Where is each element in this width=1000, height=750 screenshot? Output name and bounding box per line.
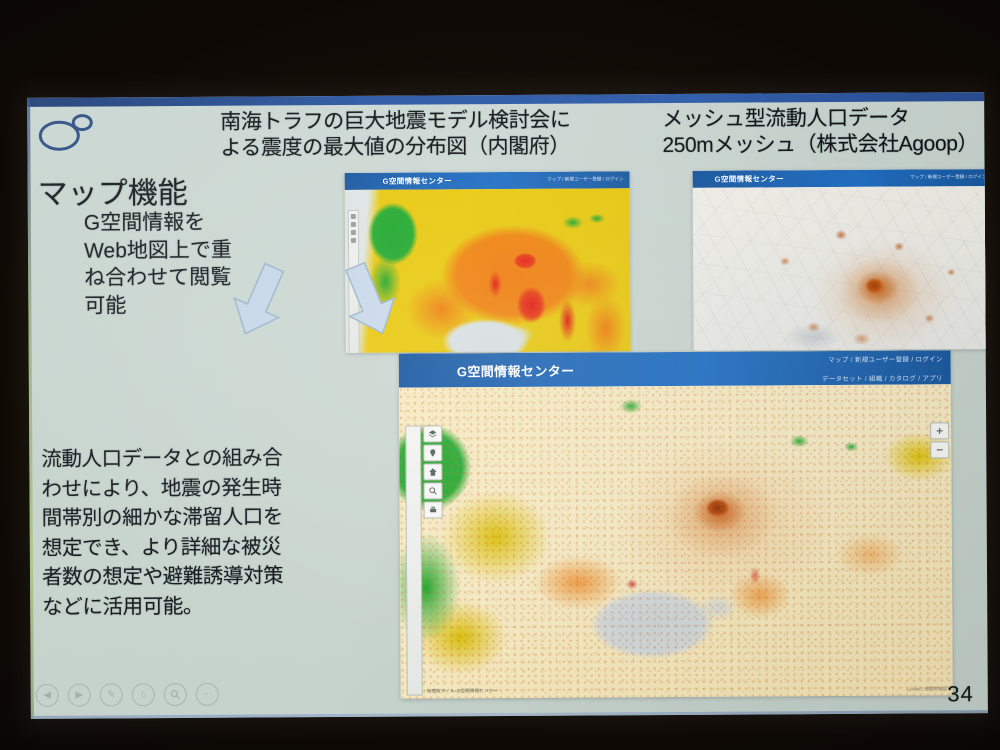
- arrow-down-right-icon: [228, 262, 290, 340]
- viewer-control-bar[interactable]: ◀ ▶ ✎ ⌂ ⋯: [36, 683, 219, 707]
- brand-label: G空間情報センター: [715, 173, 785, 184]
- title-shindo-map: 南海トラフの巨大地震モデル検討会に よる震度の最大値の分布図（内閣府）: [220, 107, 650, 161]
- arrow-down-left-icon: [338, 262, 400, 340]
- brand-label: G空間情報センター: [457, 360, 575, 380]
- map-nav-primary: マップ / 新規ユーザー登録 / ログイン: [822, 353, 943, 364]
- rail-dot: [351, 238, 356, 243]
- map-attribution: 地理院タイル・G空間情報センター: [427, 688, 498, 694]
- pen-tool-button[interactable]: ✎: [100, 683, 123, 706]
- combination-description: 流動人口データとの組み合 わせにより、地震の発生時 間帯別の細かな滞留人口を 想…: [41, 443, 362, 622]
- map-nav-group: マップ / 新規ユーザー登録 / ログイン データセット / 組織 / カタログ…: [822, 353, 943, 383]
- slide-bottom-edge: [31, 710, 988, 719]
- brand-label: G空間情報センター: [383, 175, 453, 186]
- g-kukan-logo-icon: [35, 110, 97, 154]
- title-population-mesh: メッシュ型流動人口データ 250mメッシュ（株式会社Agoop）: [662, 105, 988, 158]
- map-screenshot-combined: G空間情報センター マップ / 新規ユーザー登録 / ログイン データセット /…: [399, 350, 953, 698]
- zoom-in-icon[interactable]: [930, 422, 949, 439]
- next-slide-button[interactable]: ▶: [68, 684, 91, 707]
- map-screenshot-population-mesh: G空間情報センター マップ / 新規ユーザー登録 / ログイン: [693, 169, 988, 351]
- map-zoom-controls: [930, 422, 946, 460]
- home-icon[interactable]: [423, 463, 442, 480]
- marker-icon[interactable]: [423, 444, 442, 461]
- section-heading: マップ機能: [38, 168, 188, 213]
- presentation-slide: 南海トラフの巨大地震モデル検討会に よる震度の最大値の分布図（内閣府） メッシュ…: [27, 92, 988, 719]
- map-attribution-right: Leaflet | 地理院地図: [907, 686, 947, 692]
- rail-dot: [351, 222, 356, 227]
- rail-dot: [351, 214, 356, 219]
- map-canvas-population-mesh: [693, 186, 988, 351]
- map-nav-secondary: データセット / 組織 / カタログ / アプリ: [822, 372, 943, 383]
- map-tool-palette: [423, 425, 441, 520]
- map-header-shindo: G空間情報センター マップ / 新規ユーザー登録 / ログイン: [345, 171, 630, 190]
- slide-left-edge: [27, 98, 34, 719]
- map-canvas-combined: 地理院タイル・G空間情報センター Leaflet | 地理院地図: [399, 384, 953, 698]
- zoom-search-button[interactable]: [164, 683, 187, 706]
- home-slide-button[interactable]: ⌂: [132, 683, 155, 706]
- menu-button[interactable]: ⋯: [196, 683, 219, 706]
- print-icon[interactable]: [424, 501, 443, 518]
- search-icon[interactable]: [423, 482, 442, 499]
- slide-top-band: [27, 92, 984, 107]
- prev-slide-button[interactable]: ◀: [36, 684, 59, 707]
- map-nav-links: マップ / 新規ユーザー登録 / ログイン: [910, 174, 987, 180]
- map-side-rail: [405, 426, 423, 696]
- projector-photo-frame: 南海トラフの巨大地震モデル検討会に よる震度の最大値の分布図（内閣府） メッシュ…: [0, 0, 1000, 750]
- map-header-combined: G空間情報センター マップ / 新規ユーザー登録 / ログイン データセット /…: [399, 350, 951, 387]
- layers-icon[interactable]: [423, 425, 442, 442]
- page-number: 34: [947, 681, 974, 707]
- zoom-out-icon[interactable]: [930, 441, 949, 458]
- map-header-mesh: G空間情報センター マップ / 新規ユーザー登録 / ログイン: [693, 169, 988, 188]
- map-nav-links: マップ / 新規ユーザー登録 / ログイン: [547, 176, 624, 182]
- rail-dot: [351, 230, 356, 235]
